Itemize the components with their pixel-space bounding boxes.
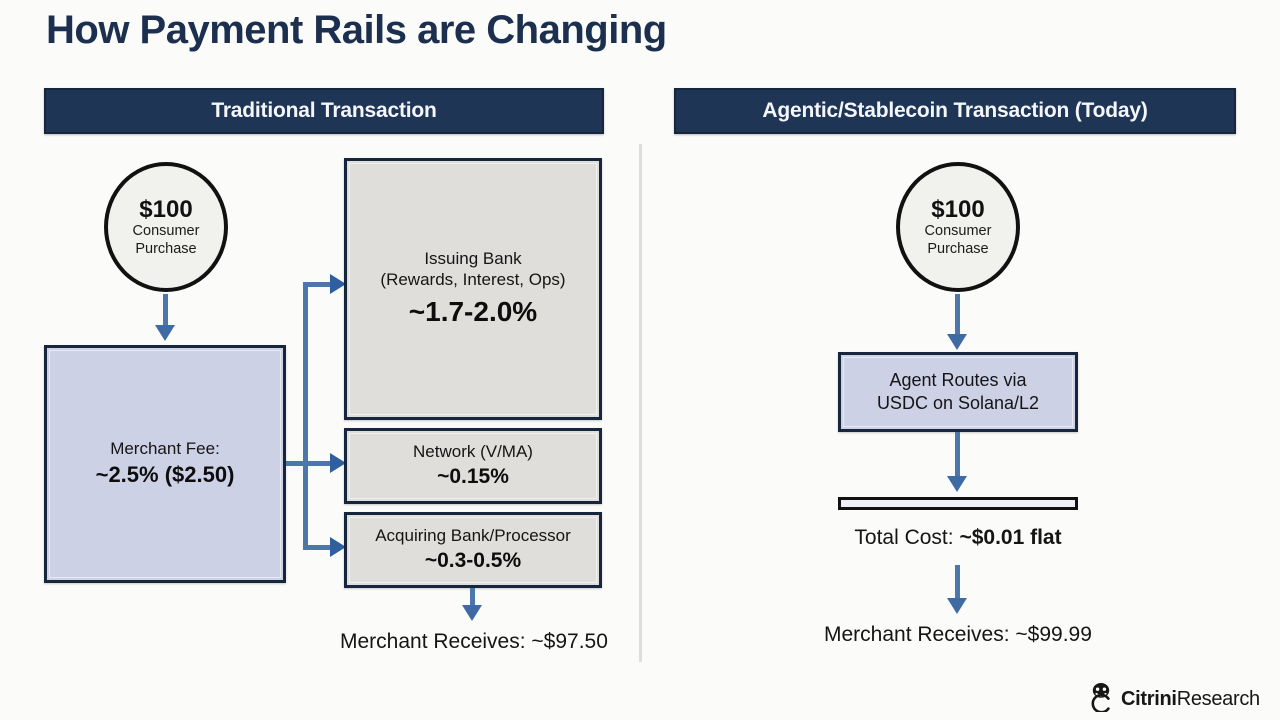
merchant-fee-box: Merchant Fee: ~2.5% ($2.50) [44,345,286,583]
acquiring-bank-box: Acquiring Bank/Processor ~0.3-0.5% [344,512,602,588]
arrow-total-cost-to-footer-head-icon [947,598,967,614]
citrini-research-logo-text: CitriniResearch [1121,688,1260,711]
column-header-traditional: Traditional Transaction [44,88,604,134]
total-cost-value: ~$0.01 flat [959,526,1061,549]
arrow-branch-trunk [303,282,308,550]
network-name: Network (V/MA) [413,442,533,462]
merchant-receives-left: Merchant Receives: ~$97.50 [340,630,608,654]
consumer-purchase-sub-right-line2: Purchase [927,241,988,257]
issuing-bank-value: ~1.7-2.0% [409,294,537,329]
logo-name-bold: Citrini [1121,688,1177,710]
consumer-purchase-amount-right: $100 [931,197,984,222]
arrow-consumer-to-agent-line [955,294,960,338]
slide-canvas: How Payment Rails are Changing Tradition… [0,0,1280,720]
column-header-agentic: Agentic/Stablecoin Transaction (Today) [674,88,1236,134]
total-cost-label-text: Total Cost: [854,526,953,549]
citrini-research-logo: CitriniResearch [1088,682,1260,717]
merchant-receives-right: Merchant Receives: ~$99.99 [824,623,1092,647]
acquiring-bank-name: Acquiring Bank/Processor [375,526,571,546]
citrini-lemon-mark-icon [1088,682,1114,717]
arrow-agent-to-total-cost-line [955,432,960,480]
issuing-bank-detail: (Rewards, Interest, Ops) [380,270,565,290]
arrow-agent-to-total-cost-head-icon [947,476,967,492]
logo-name-regular: Research [1177,688,1260,710]
agent-routes-line1: Agent Routes via [889,369,1026,392]
merchant-receives-right-label: Merchant Receives: [824,623,1010,646]
page-title: How Payment Rails are Changing [46,8,667,53]
network-box: Network (V/MA) ~0.15% [344,428,602,504]
consumer-purchase-amount-left: $100 [139,197,192,222]
consumer-purchase-sub-right-line1: Consumer [925,223,992,239]
issuing-bank-name: Issuing Bank [424,249,521,269]
agent-routes-line2: USDC on Solana/L2 [877,392,1039,415]
network-value: ~0.15% [437,464,509,490]
consumer-purchase-circle-left: $100 Consumer Purchase [104,162,228,292]
merchant-fee-value: ~2.5% ($2.50) [96,461,235,489]
issuing-bank-box: Issuing Bank (Rewards, Interest, Ops) ~1… [344,158,602,420]
total-cost-label: Total Cost: ~$0.01 flat [838,526,1078,550]
consumer-purchase-circle-right: $100 Consumer Purchase [896,162,1020,292]
arrow-consumer-to-merchant-fee-line [163,294,168,328]
arrow-consumer-to-agent-head-icon [947,334,967,350]
column-divider [639,144,642,662]
column-header-traditional-label: Traditional Transaction [211,99,436,123]
merchant-receives-left-label: Merchant Receives: [340,630,526,653]
consumer-purchase-sub-left-line2: Purchase [135,241,196,257]
consumer-purchase-sub-left-line1: Consumer [133,223,200,239]
agent-routes-box: Agent Routes via USDC on Solana/L2 [838,352,1078,432]
acquiring-bank-value: ~0.3-0.5% [425,548,521,574]
merchant-fee-label: Merchant Fee: [110,439,220,459]
merchant-receives-left-value: ~$97.50 [531,630,608,653]
arrow-consumer-to-merchant-fee-head-icon [155,325,175,341]
merchant-receives-right-value: ~$99.99 [1015,623,1092,646]
arrow-acquiring-to-footer-head-icon [462,605,482,621]
total-cost-bar [838,497,1078,510]
column-header-agentic-label: Agentic/Stablecoin Transaction (Today) [762,99,1147,123]
